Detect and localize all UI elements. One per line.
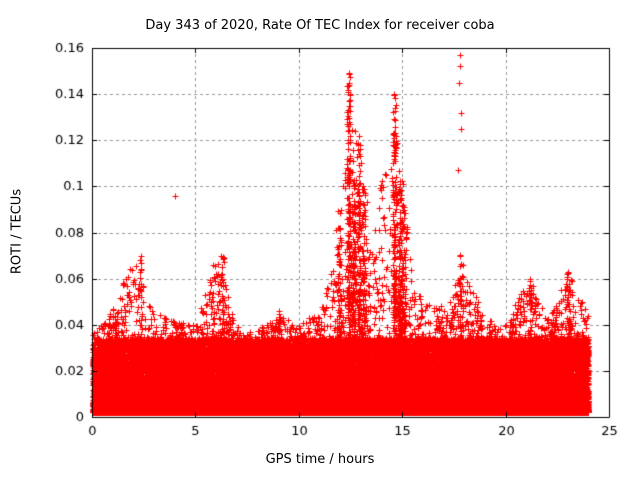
roti-scatter-plot: Day 343 of 2020, Rate Of TEC Index for r… [0,0,640,480]
plot-canvas [0,0,640,480]
